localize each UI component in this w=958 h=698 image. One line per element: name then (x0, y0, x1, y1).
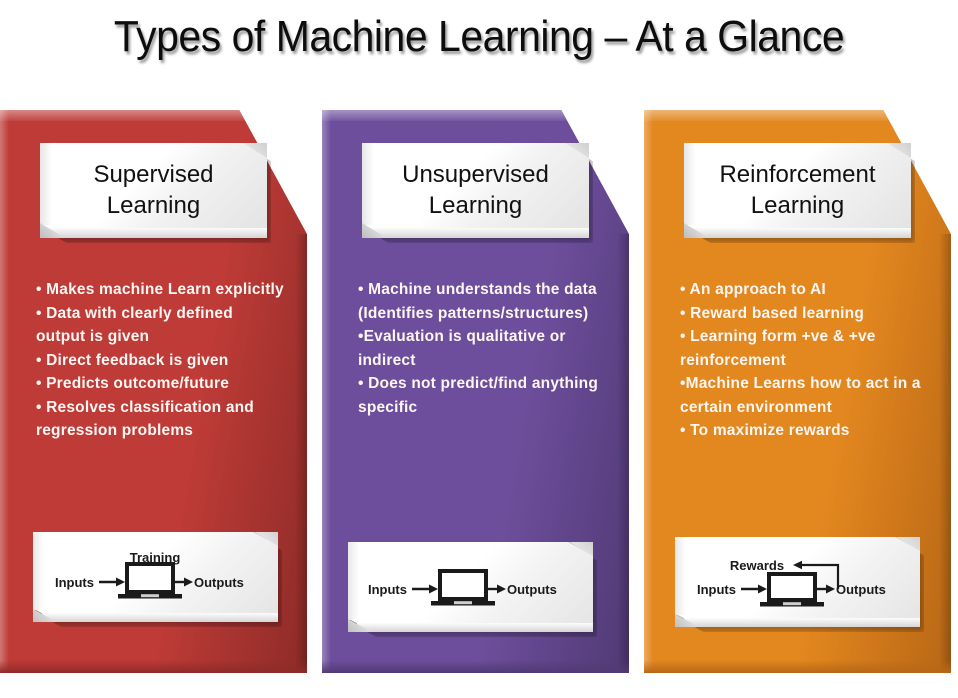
arrow-device-to-output (175, 578, 193, 587)
list-item: • Reward based learning (680, 302, 929, 326)
card-reinforcement-learning[interactable]: Reinforcement Learning • An approach to … (644, 110, 951, 673)
diagram-graphic: Training Inputs Outputs (33, 532, 278, 622)
card-left-bevel (0, 110, 9, 673)
heading-plaque: Reinforcement Learning (684, 143, 911, 238)
card-top-bevel (322, 110, 629, 121)
laptop-icon (118, 564, 182, 599)
card-top-bevel (0, 110, 307, 121)
diagram-input-label: Inputs (697, 582, 736, 597)
heading-plaque: Supervised Learning (40, 143, 267, 238)
rewards-feedback-diagram: Rewards Inputs (675, 537, 920, 627)
list-item: •Machine Learns how to act in a certain … (680, 372, 929, 419)
card-left-bevel (322, 110, 331, 673)
diagram-graphic: Inputs Outputs (348, 542, 593, 632)
training-flow-diagram: Training Inputs Outputs (33, 532, 278, 622)
card-unsupervised-learning[interactable]: Unsupervised Learning • Machine understa… (322, 110, 629, 673)
card-bottom-bevel (644, 660, 951, 673)
card-bottom-bevel (322, 660, 629, 673)
diagram-graphic: Rewards Inputs (675, 537, 920, 627)
card-left-bevel (644, 110, 653, 673)
arrow-input-to-device (741, 585, 767, 594)
list-item: • Resolves classification and regression… (36, 396, 285, 443)
list-item: • Machine understands the data (Identifi… (358, 278, 607, 325)
diagram-top-label: Rewards (730, 558, 784, 573)
laptop-icon (760, 574, 824, 607)
arrow-input-to-device (99, 578, 125, 587)
card-heading: Unsupervised Learning (362, 143, 589, 238)
card-supervised-learning[interactable]: Supervised Learning • Makes machine Lear… (0, 110, 307, 673)
card-right-bevel (939, 234, 951, 673)
arrow-device-to-output (817, 585, 835, 594)
list-item: • To maximize rewards (680, 419, 929, 443)
card-top-bevel (644, 110, 951, 121)
diagram-input-label: Inputs (55, 575, 94, 590)
arrow-input-to-device (412, 585, 438, 594)
inputs-outputs-diagram: Inputs Outputs (348, 542, 593, 632)
list-item: • Learning form +ve & +ve reinforcement (680, 325, 929, 372)
list-item: •Evaluation is qualitative or indirect (358, 325, 607, 372)
bullet-list: • An approach to AI • Reward based learn… (680, 278, 929, 443)
page-title: Types of Machine Learning – At a Glance (34, 12, 925, 62)
list-item: • Data with clearly defined output is gi… (36, 302, 285, 349)
card-right-bevel (295, 234, 307, 673)
list-item: • Direct feedback is given (36, 349, 285, 373)
list-item: • Predicts outcome/future (36, 372, 285, 396)
list-item: • An approach to AI (680, 278, 929, 302)
list-item: • Does not predict/find anything specifi… (358, 372, 607, 419)
diagram-output-label: Outputs (507, 582, 557, 597)
bullet-list: • Machine understands the data (Identifi… (358, 278, 607, 419)
card-heading: Supervised Learning (40, 143, 267, 238)
laptop-icon (431, 571, 495, 606)
diagram-input-label: Inputs (368, 582, 407, 597)
heading-plaque: Unsupervised Learning (362, 143, 589, 238)
diagram-output-label: Outputs (836, 582, 886, 597)
columns-container: Supervised Learning • Makes machine Lear… (0, 110, 958, 690)
diagram-output-label: Outputs (194, 575, 244, 590)
arrow-device-to-output (488, 585, 506, 594)
card-bottom-bevel (0, 660, 307, 673)
bullet-list: • Makes machine Learn explicitly • Data … (36, 278, 285, 443)
card-right-bevel (617, 234, 629, 673)
list-item: • Makes machine Learn explicitly (36, 278, 285, 302)
card-heading: Reinforcement Learning (684, 143, 911, 238)
